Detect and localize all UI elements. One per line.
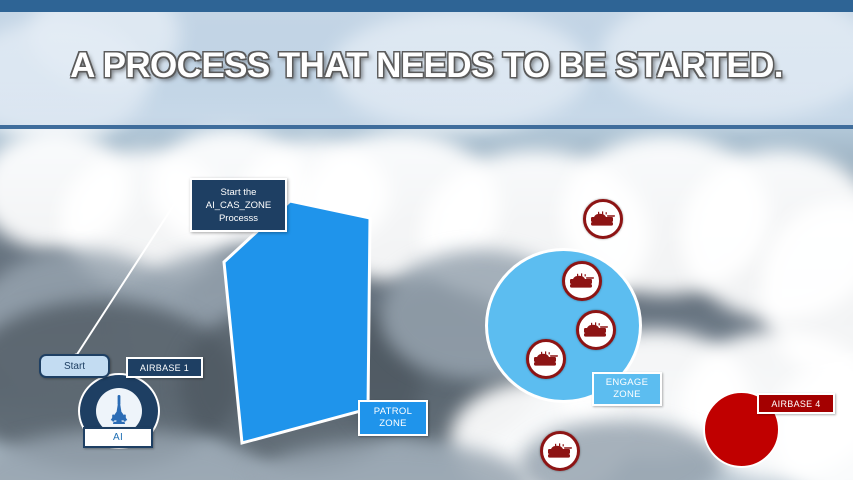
tank-icon [583,322,609,338]
engage-zone-label[interactable]: ENGAGE ZONE [592,372,662,406]
enemy-unit-marker[interactable] [576,310,616,350]
enemy-unit-marker[interactable] [562,261,602,301]
airbase-1-label[interactable]: AIRBASE 1 [126,357,203,378]
callout-line-1: Start the [192,186,285,199]
start-button[interactable]: Start [39,354,110,378]
ai-unit-label[interactable]: AI [83,427,153,448]
patrol-zone-label[interactable]: PATROL ZONE [358,400,428,436]
fighter-jet-icon [103,394,135,428]
patrol-zone-shape[interactable] [222,196,372,448]
tank-icon [590,211,616,227]
enemy-unit-marker[interactable] [540,431,580,471]
airbase-4-label[interactable]: AIRBASE 4 [757,393,835,414]
enemy-unit-marker[interactable] [526,339,566,379]
patrol-zone-label-line1: PATROL [374,406,412,418]
tank-icon [547,443,573,459]
slide-canvas: A PROCESS THAT NEEDS TO BE STARTED. [0,0,853,480]
callout-line-3: Processs [192,212,285,225]
tank-icon [569,273,595,289]
engage-zone-label-line1: ENGAGE [606,377,648,389]
enemy-unit-marker[interactable] [583,199,623,239]
process-callout-box[interactable]: Start the AI_CAS_ZONE Processs [190,178,287,232]
callout-line-2: AI_CAS_ZONE [192,199,285,212]
tank-icon [533,351,559,367]
patrol-zone-label-line2: ZONE [379,418,407,430]
engage-zone-label-line2: ZONE [613,389,641,401]
